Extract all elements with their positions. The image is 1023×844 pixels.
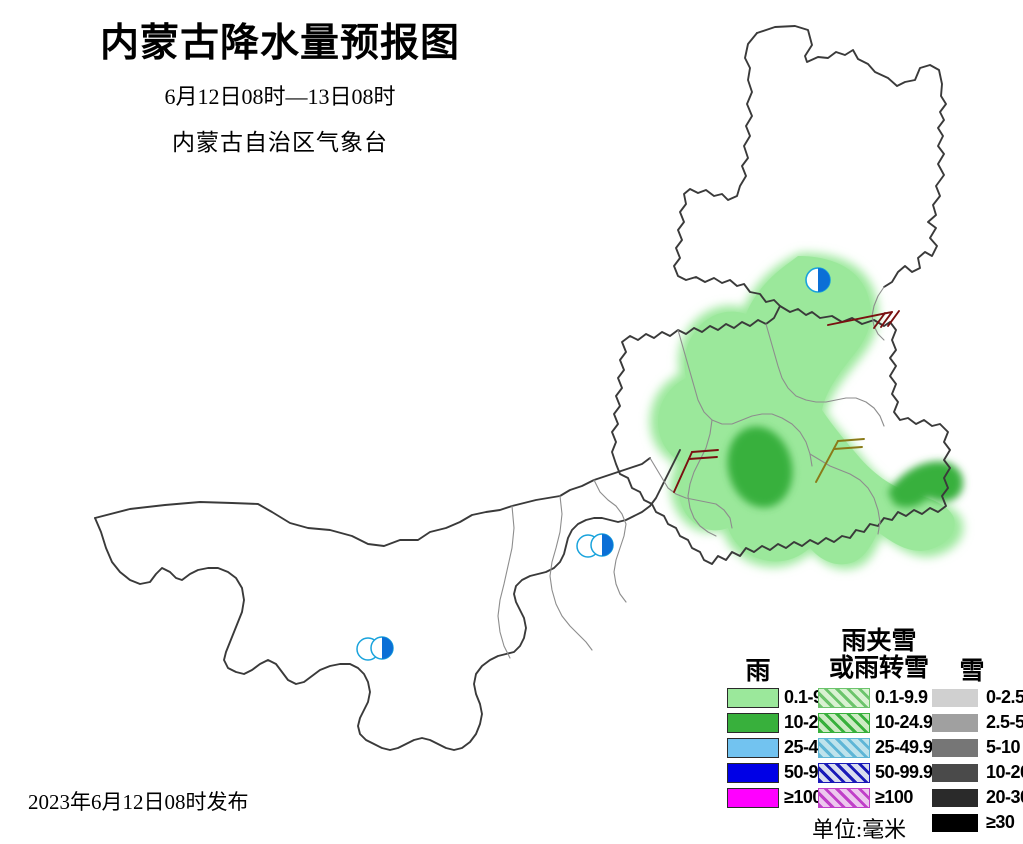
legend-swatch-rain-5	[727, 788, 779, 808]
legend-swatch-snow-6	[932, 814, 978, 832]
legend-label-snow-3: 5-10	[986, 737, 1020, 758]
legend-swatch-sleet-1	[818, 688, 870, 708]
legend-label-sleet-4: 50-99.9	[875, 762, 933, 783]
issuing-authority: 内蒙古自治区气象台	[0, 123, 560, 157]
legend-swatch-snow-4	[932, 764, 978, 782]
legend-label-snow-4: 10-20	[986, 762, 1023, 783]
legend-header-sleet-line1: 雨夹雪	[804, 628, 954, 655]
issue-time-footer: 2023年6月12日08时发布	[28, 786, 249, 816]
legend-item-sleet-1: 0.1-9.9	[818, 686, 933, 709]
station-symbol-west	[357, 637, 393, 660]
legend-item-sleet-2: 10-24.9	[818, 711, 933, 734]
legend-label-snow-6: ≥30	[986, 812, 1014, 833]
legend-label-sleet-2: 10-24.9	[875, 712, 933, 733]
legend-swatch-sleet-2	[818, 713, 870, 733]
legend-item-sleet-3: 25-49.9	[818, 736, 933, 759]
legend-swatch-rain-3	[727, 738, 779, 758]
legend-swatch-rain-4	[727, 763, 779, 783]
legend-rows-snow: 0-2.5 2.5-5 5-10 10-20 20-30 ≥30	[932, 686, 1023, 836]
legend-swatch-sleet-3	[818, 738, 870, 758]
legend-label-sleet-1: 0.1-9.9	[875, 687, 928, 708]
legend-item-snow-1: 0-2.5	[932, 686, 1023, 709]
legend-swatch-snow-2	[932, 714, 978, 732]
legend-swatch-snow-1	[932, 689, 978, 707]
legend-header-sleet: 雨夹雪 或雨转雪	[804, 628, 954, 682]
legend: 雨 雨夹雪 或雨转雪 雪 0.1-9.9 10-24.9 25-49.9 50-…	[726, 624, 1022, 824]
legend-rows-sleet: 0.1-9.9 10-24.9 25-49.9 50-99.9 ≥100	[818, 686, 933, 811]
legend-header-rain: 雨	[728, 658, 788, 685]
legend-label-rain-5: ≥100	[784, 787, 822, 808]
legend-header-snow: 雪	[942, 658, 1002, 685]
legend-swatch-rain-1	[727, 688, 779, 708]
legend-item-snow-3: 5-10	[932, 736, 1023, 759]
legend-unit-label: 单位:毫米	[812, 812, 906, 844]
station-symbol-central	[577, 534, 613, 557]
forecast-period: 6月12日08时—13日08时	[0, 79, 560, 111]
legend-header-sleet-line2: 或雨转雪	[804, 655, 954, 682]
legend-item-sleet-5: ≥100	[818, 786, 933, 809]
title-block: 内蒙古降水量预报图 6月12日08时—13日08时 内蒙古自治区气象台	[0, 22, 560, 157]
legend-swatch-snow-5	[932, 789, 978, 807]
legend-swatch-rain-2	[727, 713, 779, 733]
legend-item-sleet-4: 50-99.9	[818, 761, 933, 784]
legend-item-snow-6: ≥30	[932, 811, 1023, 834]
station-symbol-east-hulunbuir	[806, 268, 830, 292]
legend-swatch-snow-3	[932, 739, 978, 757]
legend-label-snow-1: 0-2.5	[986, 687, 1023, 708]
legend-label-sleet-5: ≥100	[875, 787, 913, 808]
legend-item-snow-2: 2.5-5	[932, 711, 1023, 734]
legend-swatch-sleet-5	[818, 788, 870, 808]
inner-mongolia-boundary	[95, 450, 680, 750]
legend-item-snow-4: 10-20	[932, 761, 1023, 784]
legend-swatch-sleet-4	[818, 763, 870, 783]
legend-item-snow-5: 20-30	[932, 786, 1023, 809]
legend-label-snow-5: 20-30	[986, 787, 1023, 808]
legend-label-sleet-3: 25-49.9	[875, 737, 933, 758]
page-title: 内蒙古降水量预报图	[0, 22, 560, 67]
legend-label-snow-2: 2.5-5	[986, 712, 1023, 733]
